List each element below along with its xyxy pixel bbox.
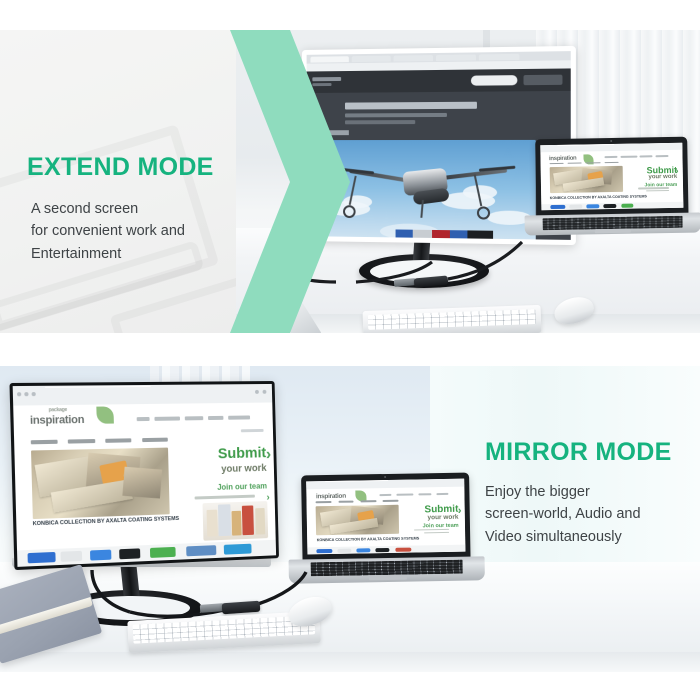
banner-root: inspiration xyxy=(0,0,700,700)
extend-body-line-1: A second screen xyxy=(31,198,185,220)
extend-body-line-2: for convenient work and xyxy=(31,220,185,242)
mint-chevron-divider xyxy=(230,30,350,333)
extend-mode-body: A second screen for convenient work and … xyxy=(31,198,185,265)
usb-c-connector xyxy=(200,603,224,613)
mirror-mode-body: Enjoy the bigger screen-world, Audio and… xyxy=(485,481,641,548)
mirror-body-line-2: screen-world, Audio and xyxy=(485,503,641,525)
mirror-mode-title: MIRROR MODE xyxy=(485,438,672,467)
mirror-body-line-3: Video simultaneously xyxy=(485,526,641,548)
mirror-body-line-1: Enjoy the bigger xyxy=(485,481,641,503)
extend-body-line-3: Entertainment xyxy=(31,243,185,265)
panel-extend-mode: inspiration xyxy=(0,30,700,333)
extend-mode-title: EXTEND MODE xyxy=(27,153,214,182)
